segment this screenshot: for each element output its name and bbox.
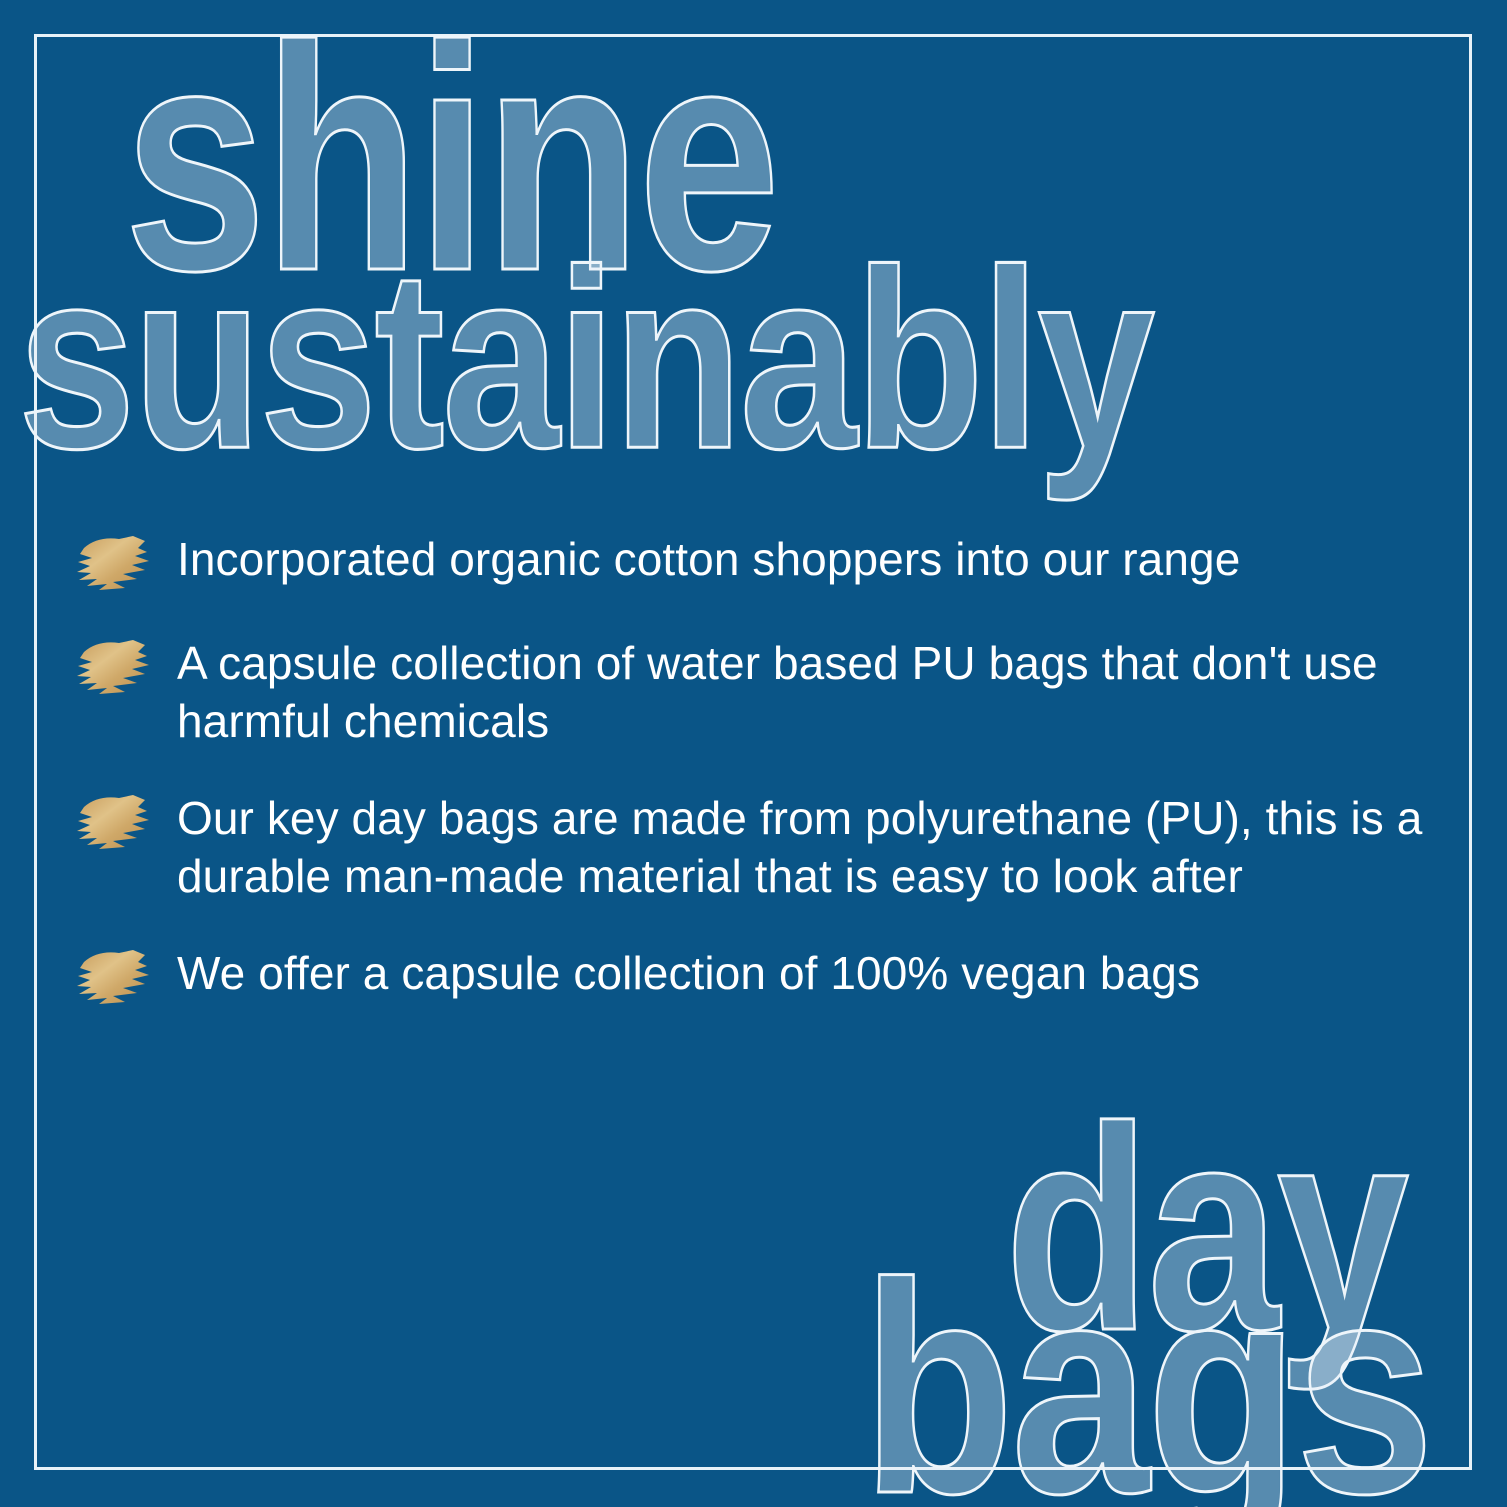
footer-headline-line-bags: bags — [862, 1238, 1431, 1507]
gold-brush-stroke-icon — [75, 793, 153, 855]
list-item-label: We offer a capsule collection of 100% ve… — [177, 942, 1200, 1002]
gold-brush-stroke-icon — [75, 948, 153, 1010]
list-item: Our key day bags are made from polyureth… — [75, 787, 1445, 906]
gold-brush-stroke-icon — [75, 638, 153, 700]
gold-brush-stroke-icon — [75, 534, 153, 596]
list-item: A capsule collection of water based PU b… — [75, 632, 1445, 751]
list-item-label: Our key day bags are made from polyureth… — [177, 787, 1445, 906]
headline-line-sustainably: sustainably — [18, 232, 1152, 487]
sustainability-poster: shine sustainably Incorpora — [0, 0, 1507, 1507]
list-item: We offer a capsule collection of 100% ve… — [75, 942, 1445, 1010]
list-item: Incorporated organic cotton shoppers int… — [75, 528, 1445, 596]
list-item-label: Incorporated organic cotton shoppers int… — [177, 528, 1240, 588]
sustainability-bullet-list: Incorporated organic cotton shoppers int… — [75, 528, 1445, 1010]
list-item-label: A capsule collection of water based PU b… — [177, 632, 1445, 751]
